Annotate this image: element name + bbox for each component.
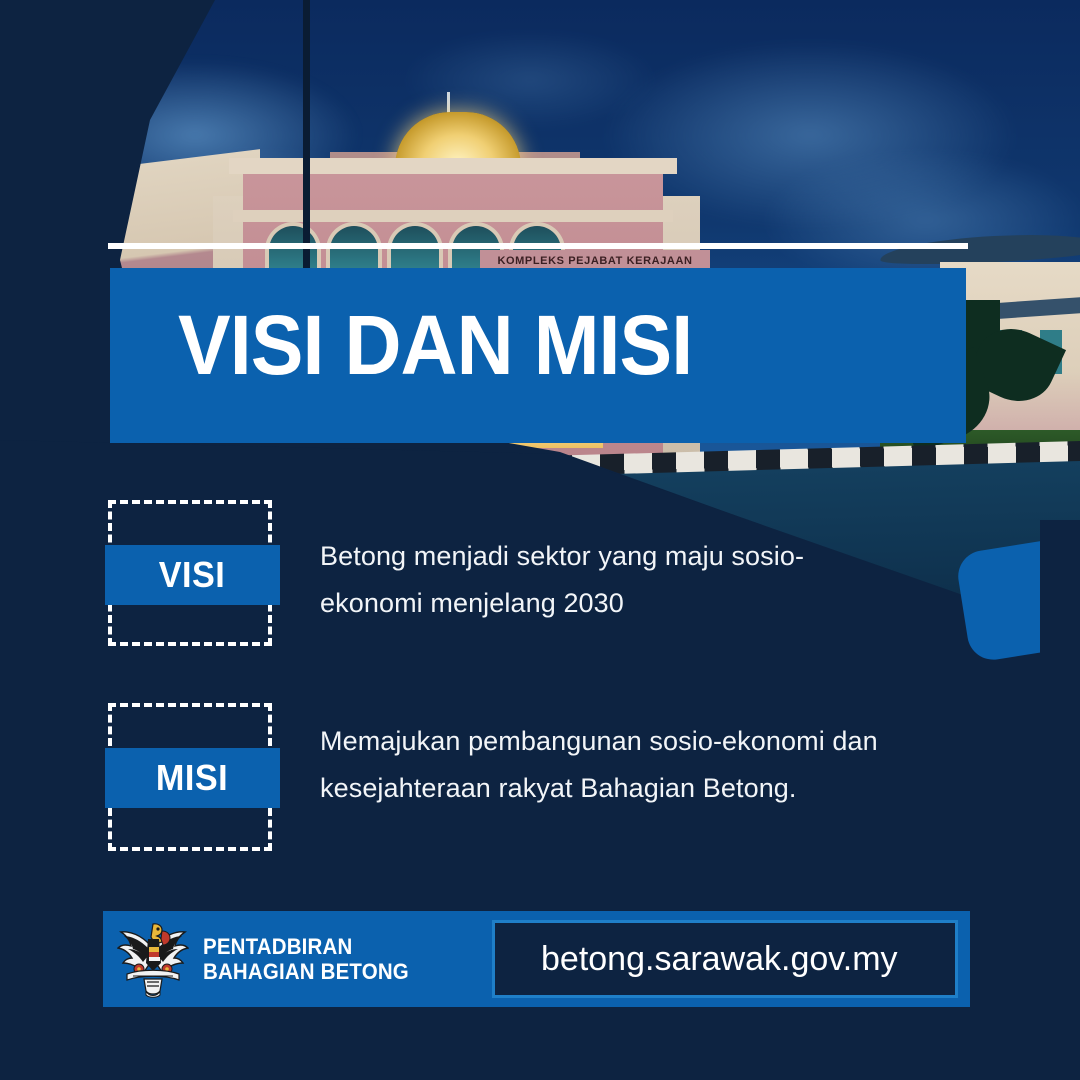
visi-text: Betong menjadi sektor yang maju sosio-ek…	[320, 533, 880, 627]
visi-badge: VISI	[105, 545, 280, 605]
brand-name: PENTADBIRAN BAHAGIAN BETONG	[203, 934, 409, 984]
misi-badge-label: MISI	[156, 757, 228, 799]
misi-badge: MISI	[105, 748, 280, 808]
facade-band	[233, 210, 673, 222]
misi-text: Memajukan pembangunan sosio-ekonomi dan …	[320, 718, 880, 812]
brand-line-2: BAHAGIAN BETONG	[203, 959, 409, 984]
poster-canvas: BLOK A	[0, 0, 1080, 1080]
website-url-box[interactable]: betong.sarawak.gov.my	[492, 920, 958, 998]
brand-line-1: PENTADBIRAN	[203, 934, 409, 959]
sarawak-coat-of-arms-icon	[117, 919, 189, 999]
cornice	[229, 158, 677, 174]
title-divider-rule	[108, 243, 968, 249]
visi-badge-label: VISI	[159, 554, 226, 596]
chip-edge-mask	[1040, 520, 1080, 690]
footer-brand: PENTADBIRAN BAHAGIAN BETONG	[103, 911, 493, 1007]
website-url: betong.sarawak.gov.my	[541, 940, 898, 979]
page-title: VISI DAN MISI	[178, 299, 692, 391]
lamp-post	[303, 0, 310, 300]
footer-bar: PENTADBIRAN BAHAGIAN BETONG betong.saraw…	[103, 911, 970, 1007]
